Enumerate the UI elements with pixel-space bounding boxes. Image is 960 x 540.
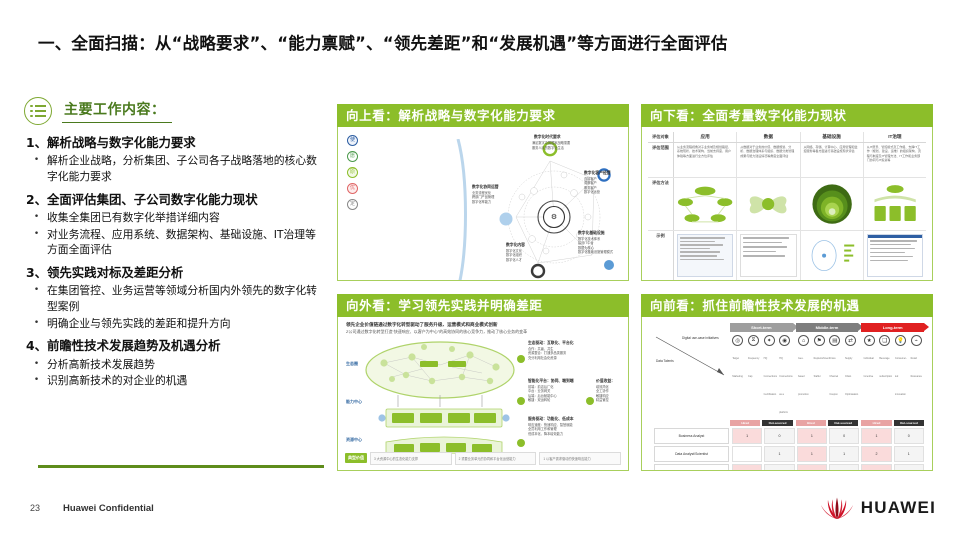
- list-item: 原: [347, 167, 443, 178]
- list-icon: [24, 97, 52, 125]
- innovation-icon: 💡: [895, 335, 906, 346]
- node-label-content: 数字化内容 数字化文化 数字化组织 数字化人才: [506, 243, 525, 262]
- principle-icon: 原: [347, 167, 358, 178]
- list-item: 定: [347, 199, 443, 210]
- callout-number-4: [586, 339, 594, 457]
- left-panel-header: 主要工作内容：: [24, 96, 324, 126]
- table-row: 评估范围 从业务流程视角对子业务域及规划路径、系统现状、技术架构、当前支持度、用…: [648, 143, 926, 178]
- column-header: 应用: [677, 134, 733, 140]
- quadrant-header-look-down: 向下看：全面考量数字化能力现状: [641, 104, 933, 127]
- quadrant-thumbnail-look-up: 使 愿 原 优 定: [337, 127, 629, 281]
- vision-icon: 愿: [347, 151, 358, 162]
- coupon-icon: ▤: [829, 335, 840, 346]
- column-header: 数据: [740, 134, 796, 140]
- svg-text:⚙: ⚙: [551, 213, 557, 221]
- axis-label-talents: Data Talents: [656, 359, 674, 363]
- positioning-icon: 定: [347, 199, 358, 210]
- incentive-icon: ★: [864, 335, 875, 346]
- supply-chain-icon: ⇄: [845, 335, 856, 346]
- callout-4: 价值收益： 增效简化 全工协作 敏捷响应 精益管控: [596, 379, 615, 403]
- callout-numbers: [516, 339, 526, 457]
- node-sub-era: 满足数字中国国家战略需要 服务人民的数字化生活: [532, 141, 570, 150]
- footer-tag: 典型价值: [345, 453, 367, 463]
- sourcing-header-row: Hired Out-sourced Hired Out-sourced Hire…: [730, 420, 924, 426]
- left-panel-divider: [38, 465, 324, 468]
- assessment-table: 评估对象 应用 数据 基础设施 IT治理 评估范围 从业务流程视角对子业务域及规…: [648, 132, 926, 275]
- list-item: 愿: [347, 151, 443, 162]
- quadrant-look-forward[interactable]: 向前看：抓住前瞻性技术发展的机遇 Short-term Middle-term …: [641, 294, 933, 470]
- sourcing-outsourced: Out-sourced: [894, 420, 924, 426]
- confidential-label: Huawei Confidential: [63, 503, 154, 514]
- thumb-title-line1: 领先企业价值链通过数字化转型驱动了服务升级、运营模式和商业模式创新: [346, 322, 498, 328]
- band-label-ecosystem: 生态圈: [346, 361, 358, 367]
- quadrant-header-look-outward: 向外看：学习领先实践并明确差距: [337, 294, 629, 317]
- replenishment-icon: ⚑: [814, 335, 825, 346]
- quadrant-look-up[interactable]: 向上看：解析战略与数字化能力要求 使 愿 原 优: [337, 104, 629, 280]
- bullet-dot-icon: •: [32, 283, 41, 314]
- column-header: IT治理: [867, 134, 923, 140]
- node-label-era: 数字化时代要求: [534, 135, 561, 141]
- quadrant-header-look-up: 向上看：解析战略与数字化能力要求: [337, 104, 629, 127]
- node-label-customer: 数字化客户经营 连接客户 洞察客户 服务客户 数字化运营: [584, 171, 611, 195]
- row-label: Business Analyst: [654, 428, 729, 444]
- quadrant-look-outward[interactable]: 向外看：学习领先实践并明确差距 领先企业价值链通过数字化转型驱动了服务升级、运营…: [337, 294, 629, 470]
- callout-3: 服务驱动：功能化、低成本 响应速度：快速响应、智慧赋能 全员利用工作和管理 低成…: [528, 417, 574, 436]
- huawei-logo: HUAWEI: [820, 496, 936, 520]
- slide-root: 一、全面扫描：从“战略要求”、“能力禀赋”、“领先差距”和“发展机遇”等方面进行…: [0, 0, 960, 540]
- node-label-infra: 数字化基础设施 数字化技术体系 建设IT中台 数据为核心 数字化基础设施管理模式: [578, 231, 613, 255]
- table-row: 示例: [648, 231, 926, 280]
- talent-matrix: Short-term Middle-term Long-term ◎Target…: [654, 323, 924, 464]
- huawei-wordmark: HUAWEI: [861, 498, 936, 518]
- scoring-gauge: [804, 234, 860, 277]
- table-row: 评估方法: [648, 178, 926, 231]
- mission-icon: 使: [347, 135, 358, 146]
- list-item: 使: [347, 135, 443, 146]
- bullet-dot-icon: •: [32, 373, 41, 389]
- sourcing-hired: Hired: [730, 420, 760, 426]
- list-item: • 识别高新技术的对企业的机遇: [32, 373, 324, 389]
- bullet-dot-icon: •: [32, 210, 41, 226]
- it-governance-model-chart: [867, 180, 923, 228]
- subscription-icon: ❑: [879, 335, 890, 346]
- section-heading-2: 2、全面评估集团、子公司数字化能力现状: [26, 192, 324, 208]
- advantage-icon: 优: [347, 183, 358, 194]
- bullet-dot-icon: •: [32, 357, 41, 373]
- huawei-flower-icon: [820, 496, 854, 520]
- hq-certification-icon: ✦: [764, 335, 775, 346]
- band-label-resource: 资源中心: [346, 437, 362, 443]
- quadrant-header-look-forward: 向前看：抓住前瞻性技术发展的机遇: [641, 294, 933, 317]
- thumb-title-line2: Z公司通过数字化转型打造“快速响应、以客户为中心”的高效协同的核心竞争力，推动了…: [346, 329, 527, 335]
- geo-promotion-icon: ⌂: [798, 335, 809, 346]
- main-work-content-panel: 主要工作内容： 1、解析战略与数字化能力要求 • 解析企业战略，分析集团、子公司…: [24, 96, 324, 468]
- axis-label-usecase: Digital use-case initiatives: [682, 336, 719, 340]
- bullet-dot-icon: •: [32, 227, 41, 258]
- left-panel-body: 1、解析战略与数字化能力要求 • 解析企业战略，分析集团、子公司各子战略落地的核…: [24, 135, 324, 389]
- callout-2: 智能化平台：协同、端到端 前端：前店后厂化 中台：业务网关 后端：后台赋能中心 …: [528, 379, 574, 403]
- strategy-attribute-list: 使 愿 原 优 定: [347, 135, 443, 215]
- phase-row: Short-term Middle-term Long-term: [730, 323, 924, 332]
- relevance-icon: ⌁: [911, 335, 922, 346]
- sourcing-hired: Hired: [796, 420, 826, 426]
- sourcing-outsourced: Out-sourced: [828, 420, 858, 426]
- list-item: • 收集全集团已有数字化举措详细内容: [32, 210, 324, 226]
- quadrant-look-down[interactable]: 向下看：全面考量数字化能力现状 评估对象 应用 数据 基础设施 IT治理 评估范…: [641, 104, 933, 280]
- quadrant-thumbnail-look-forward: Short-term Middle-term Long-term ◎Target…: [641, 317, 933, 471]
- section-heading-1: 1、解析战略与数字化能力要求: [26, 135, 324, 151]
- sourcing-outsourced: Out-sourced: [762, 420, 792, 426]
- hq-platform-icon: ◉: [779, 335, 790, 346]
- quadrant-thumbnail-look-down: 评估对象 应用 数据 基础设施 IT治理 评估范围 从业务流程视角对子业务域及规…: [641, 127, 933, 281]
- column-header: 基础设施: [804, 134, 860, 140]
- table-row: Data Engineer 0 1 0 2 0 0: [654, 464, 924, 471]
- node-label-coop: 数字化协同运营 业务流程优化 跨部门产品管理 数字化率能力: [472, 185, 499, 204]
- footer-note: 2 重要业务单元的协同和平台化运营能力: [455, 452, 537, 465]
- list-item: • 对业务流程、应用系统、数据架构、基础设施、IT治理等方面全面评估: [32, 227, 324, 258]
- infrastructure-maturity-chart: [804, 180, 860, 228]
- left-panel-title: 主要工作内容：: [62, 99, 172, 123]
- list-item: • 在集团管控、业务运营等领域分析国内外领先的数字化转型案例: [32, 283, 324, 314]
- list-item: 优: [347, 183, 443, 194]
- axis-divider-icon: [654, 335, 728, 377]
- phase-label: Middle-term: [816, 325, 839, 330]
- page-number: 23: [30, 503, 40, 513]
- list-item: • 明确企业与领先实践的差距和提升方向: [32, 316, 324, 332]
- row-label: Data Engineer: [654, 464, 729, 471]
- list-item: • 分析高新技术发展趋势: [32, 357, 324, 373]
- page-title: 一、全面扫描：从“战略要求”、“能力禀赋”、“领先差距”和“发展机遇”等方面进行…: [38, 30, 928, 54]
- data-quadrant-chart: [740, 180, 796, 228]
- section-heading-4: 4、前瞻性技术发展趋势及机遇分析: [26, 338, 324, 354]
- bullet-dot-icon: •: [32, 316, 41, 332]
- ecosystem-diagram: [362, 337, 524, 462]
- table-row: Business Analyst 1 0 1 0 1 0: [654, 428, 924, 444]
- list-item: • 解析企业战略，分析集团、子公司各子战略落地的核心数字化能力要求: [32, 153, 324, 184]
- table-row: Data Analyst/Scientist 1 1 1 2 1: [654, 446, 924, 462]
- phase-label: Long-term: [883, 325, 903, 330]
- quadrant-thumbnail-look-outward: 领先企业价值链通过数字化转型驱动了服务升级、运营模式和商业模式创新 Z公司通过数…: [337, 317, 629, 471]
- sourcing-hired: Hired: [861, 420, 891, 426]
- thumb-footer: 典型价值 3 大资源中心的生态化能力支撑 2 重要业务单元的协同和平台化运营能力…: [345, 452, 621, 464]
- arrow-divider-icon: [456, 139, 470, 281]
- section-heading-3: 3、领先实践对标及差距分析: [26, 265, 324, 281]
- footer-note: 1 以客户需求驱动的快速响应能力: [539, 452, 621, 465]
- table-header-row: 评估对象 应用 数据 基础设施 IT治理: [648, 132, 926, 143]
- use-case-icon-row: ◎Target Marketing ⧖Frequency Cap ✦HQ Con…: [730, 335, 924, 418]
- footer-note: 3 大资源中心的生态化能力支撑: [370, 452, 452, 465]
- bullet-dot-icon: •: [32, 153, 41, 184]
- callout-1: 生态驱动：互联化、平台化 合作：共赢、共生 资源整合：打通多品类服务 充分利用社…: [528, 341, 574, 360]
- row-label: Data Analyst/Scientist: [654, 446, 729, 462]
- phase-label: Short-term: [751, 325, 771, 330]
- capability-ring-chart: [677, 180, 733, 228]
- target-marketing-icon: ◎: [732, 335, 743, 346]
- capability-network-diagram: ⚙: [476, 131, 626, 281]
- frequency-cap-icon: ⧖: [748, 335, 759, 346]
- band-label-capability: 能力中心: [346, 399, 362, 405]
